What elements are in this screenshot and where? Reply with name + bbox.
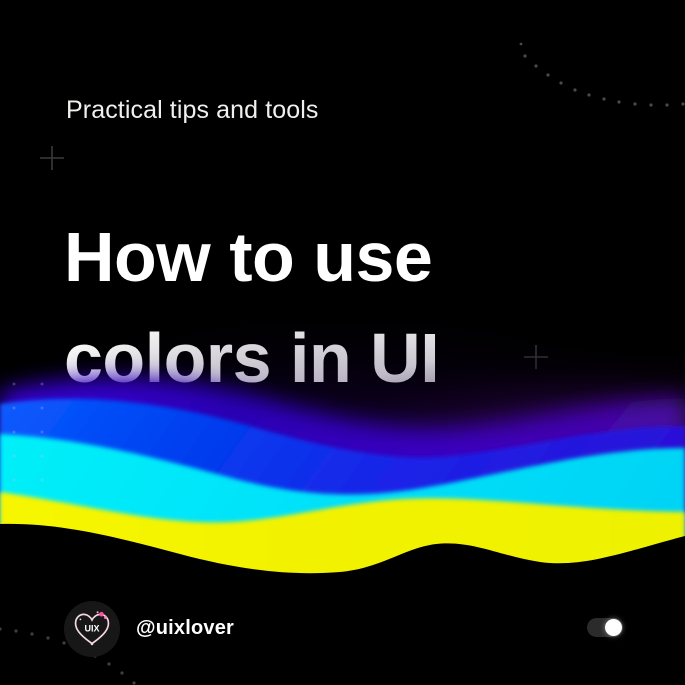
avatar-logo-text: UIX bbox=[84, 624, 99, 634]
headline-line-2: colors in UI bbox=[64, 308, 624, 410]
theme-toggle-switch[interactable] bbox=[587, 618, 623, 637]
footer-bar: UIX @uixlover bbox=[0, 589, 685, 685]
headline-line-1: How to use bbox=[64, 207, 624, 309]
page-title: How to use colors in UI bbox=[64, 207, 624, 410]
avatar[interactable]: UIX bbox=[64, 601, 120, 657]
social-post-canvas: Practical tips and tools How to use colo… bbox=[0, 0, 685, 685]
corner-arc-top-right-icon bbox=[519, 0, 685, 124]
toggle-knob bbox=[605, 619, 622, 636]
account-handle[interactable]: @uixlover bbox=[136, 617, 234, 640]
kicker-text: Practical tips and tools bbox=[66, 96, 319, 125]
heart-outline-icon: UIX bbox=[72, 610, 112, 648]
plus-mark-icon bbox=[38, 144, 66, 172]
